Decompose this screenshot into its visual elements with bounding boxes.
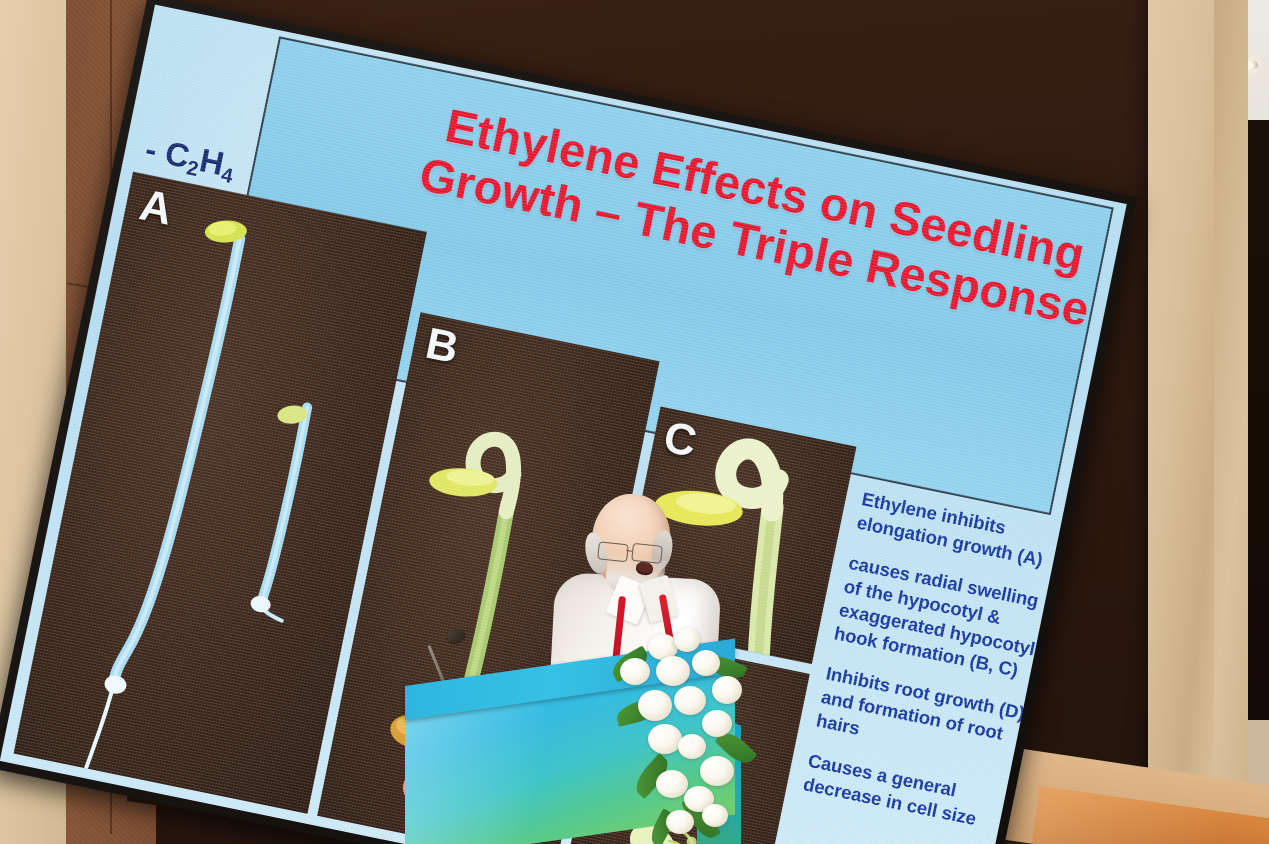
flower-bloom [678, 734, 706, 759]
flower-bloom [656, 656, 690, 686]
bullet-item: causes radial swelling of the hypocotyl … [832, 551, 1051, 686]
flower-bloom [648, 724, 682, 754]
flower-bloom [674, 628, 700, 652]
flower-bloom [656, 770, 688, 798]
flower-bloom [666, 810, 694, 834]
flower-bloom [692, 650, 720, 676]
conference-hall-scene: Ethylene Effects on Seedling Growth – Th… [0, 0, 1269, 844]
right-wall-column [1148, 0, 1220, 844]
flower-arrangement [608, 628, 758, 844]
right-wall-pilaster [1214, 0, 1248, 844]
flower-bloom [700, 756, 734, 786]
flower-bloom [638, 690, 672, 721]
flower-bloom [712, 676, 742, 704]
flower-bloom [702, 804, 728, 827]
flower-bloom [702, 710, 732, 737]
flower-bloom [674, 686, 706, 715]
flower-bloom [620, 658, 650, 685]
